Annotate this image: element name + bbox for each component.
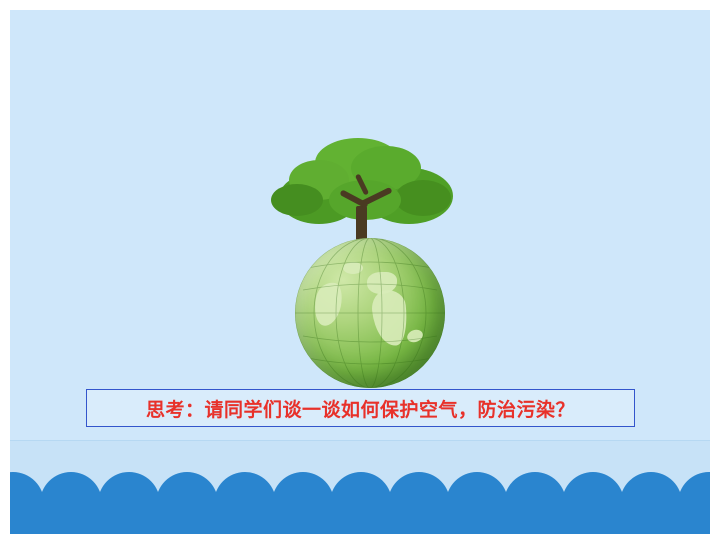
arch-shape: [504, 472, 566, 534]
arch-row-back: [10, 472, 710, 534]
arch-shape: [214, 472, 276, 534]
earth-globe: [295, 238, 445, 388]
arch-shape: [620, 472, 682, 534]
arch-shape: [10, 472, 44, 534]
tree-canopy: [395, 180, 451, 216]
question-text: 思考：请同学们谈一谈如何保护空气，防治污染？: [146, 395, 575, 422]
tree-canopy: [271, 184, 323, 216]
slide-canvas: 思考：请同学们谈一谈如何保护空气，防治污染？: [0, 0, 720, 540]
arch-shape: [156, 472, 218, 534]
arch-shape: [330, 472, 392, 534]
arch-shape: [388, 472, 450, 534]
frame-edge-bottom: [0, 534, 720, 540]
frame-edge-top: [0, 0, 720, 10]
arch-shape: [446, 472, 508, 534]
arch-shape: [678, 472, 710, 534]
arch-shape: [562, 472, 624, 534]
arch-shape: [98, 472, 160, 534]
question-callout-box: 思考：请同学们谈一谈如何保护空气，防治污染？: [86, 389, 635, 427]
bottom-arch-decoration: [10, 472, 710, 534]
band-divider: [10, 440, 710, 441]
frame-edge-right: [710, 0, 720, 540]
arch-shape: [40, 472, 102, 534]
green-earth-with-tree-image: [255, 120, 470, 375]
frame-edge-left: [0, 0, 10, 540]
arch-shape: [272, 472, 334, 534]
globe-grid-lines: [295, 238, 445, 388]
